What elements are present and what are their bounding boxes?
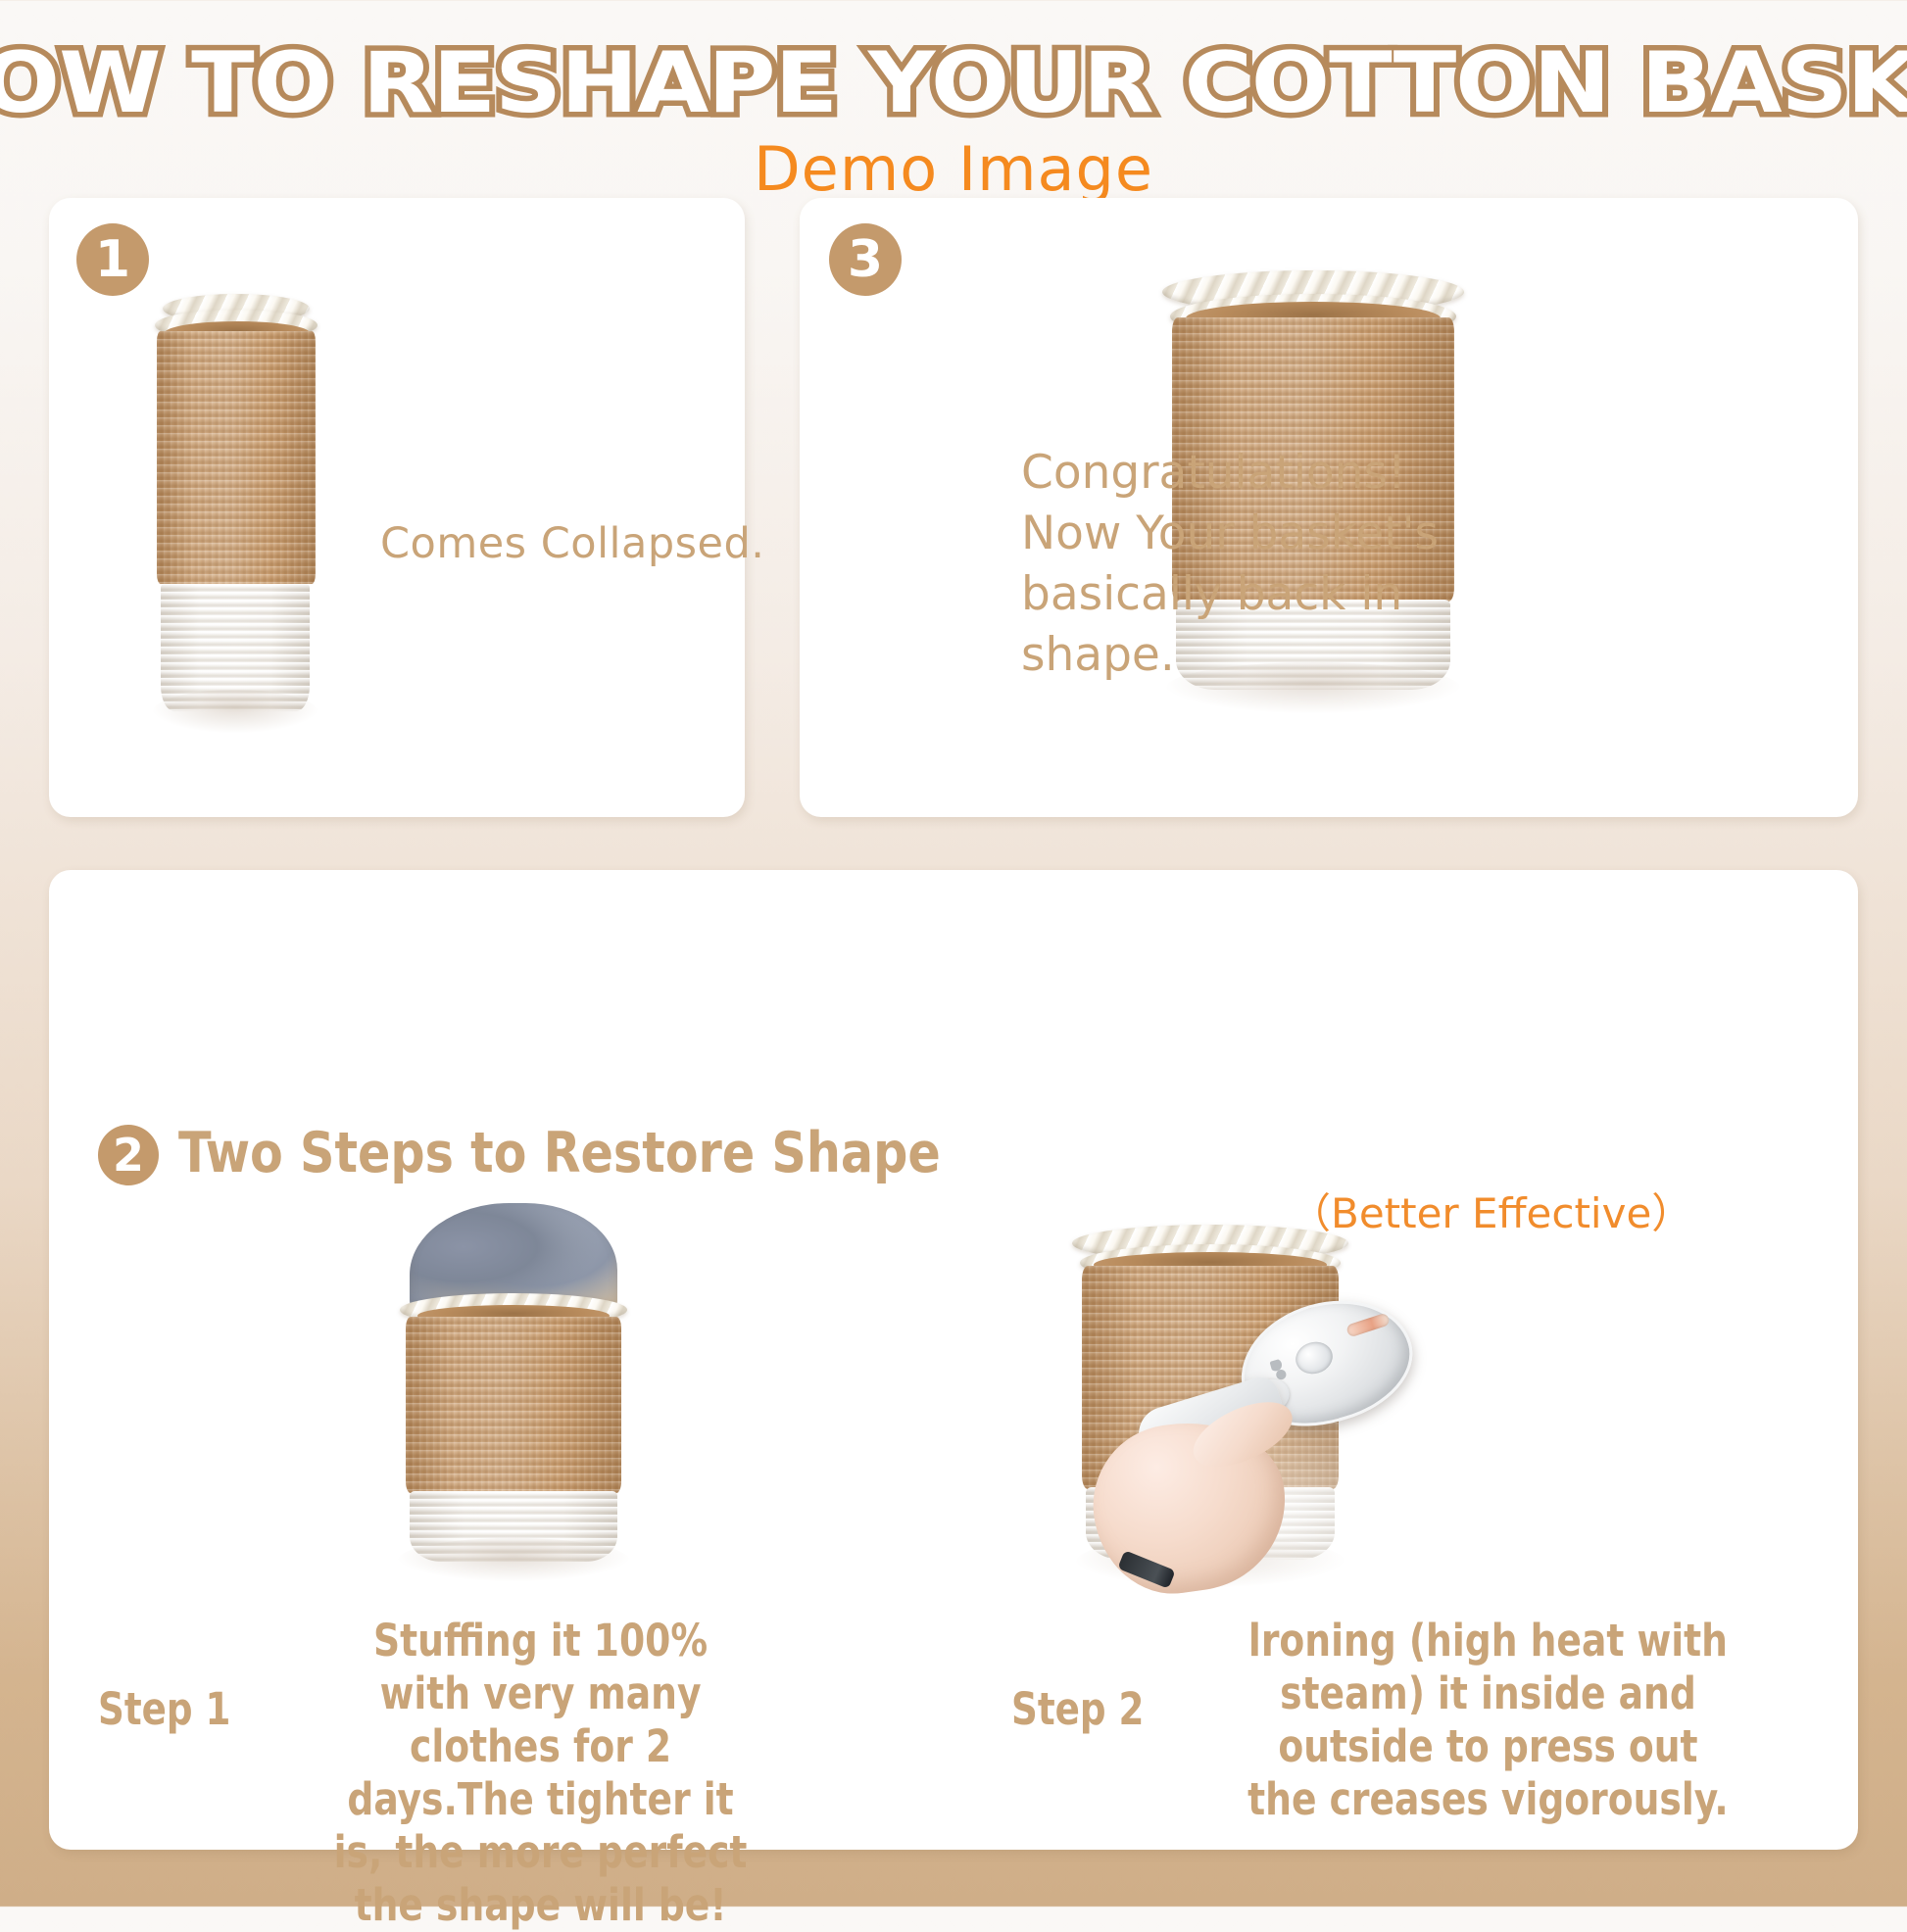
step-badge-3: 3 (829, 223, 902, 296)
collapsed-basket-image (145, 294, 327, 733)
step-badge-2: 2 (98, 1125, 159, 1185)
step-1-caption: Comes Collapsed. (380, 519, 764, 568)
step-2-body: lroning (high heat with steam) it inside… (1247, 1615, 1730, 1826)
stuffed-basket-image (382, 1203, 645, 1591)
basket-shadow (153, 690, 318, 733)
infographic-header: HOW TO RESHAPE YOUR COTTON BASKET Demo I… (0, 0, 1907, 205)
step-1-label: Step 1 (98, 1683, 230, 1735)
step-2-label: Step 2 (1011, 1683, 1144, 1735)
basket-woven-body (406, 1317, 621, 1493)
page-title: HOW TO RESHAPE YOUR COTTON BASKET (0, 41, 1907, 127)
basket-woven-body (157, 331, 316, 584)
step-3-caption: Congratulations! Now Your basket's basic… (1021, 443, 1442, 686)
step-1-body: Stuffing it 100% with very many clothes … (326, 1615, 755, 1932)
step-2-heading: Two Steps to Restore Shape (178, 1121, 941, 1185)
step-badge-1: 1 (76, 223, 149, 296)
page-subtitle: Demo Image (0, 133, 1907, 205)
garment-steamer-icon (1103, 1303, 1446, 1597)
basket-shadow (398, 1538, 629, 1581)
